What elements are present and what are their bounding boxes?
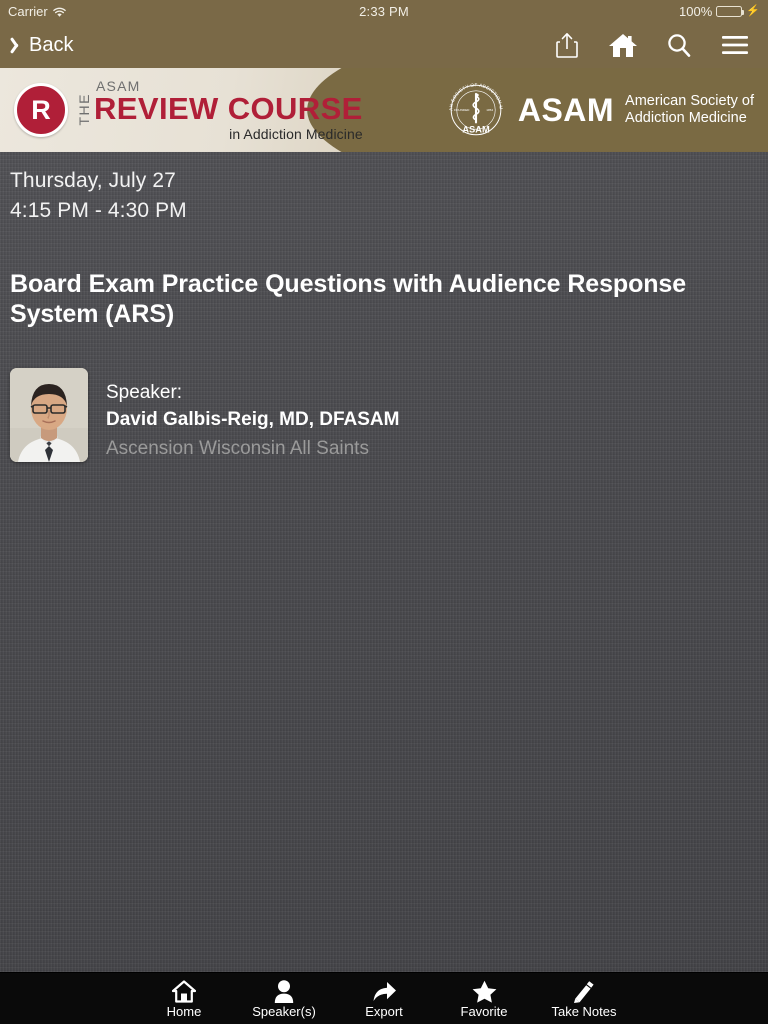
app-root: Carrier 2:33 PM 100% ⚡ Back: [0, 0, 768, 1024]
speaker-photo[interactable]: [10, 368, 88, 462]
tab-export-label: Export: [365, 1005, 403, 1018]
asam-brand-lockup: AMERICAN SOCIETY OF ADDICTION MEDICINE A…: [445, 68, 754, 152]
home-icon[interactable]: [608, 30, 638, 60]
review-course-the-label: THE: [77, 93, 91, 128]
status-bar: Carrier 2:33 PM 100% ⚡: [0, 0, 768, 22]
speaker-name: David Galbis-Reig, MD, DFASAM: [106, 406, 399, 435]
review-course-wordmark: ASAM REVIEW COURSE in Addiction Medicine: [94, 79, 363, 141]
asam-name-line2: Addiction Medicine: [625, 110, 754, 127]
battery-percent-label: 100%: [679, 4, 712, 19]
pencil-icon: [573, 979, 595, 1003]
battery-charging-icon: [716, 6, 742, 17]
status-bar-time: 2:33 PM: [0, 4, 768, 19]
tab-home[interactable]: Home: [134, 973, 234, 1024]
speaker-organization: Ascension Wisconsin All Saints: [106, 435, 399, 464]
back-button[interactable]: Back: [0, 34, 73, 57]
session-detail-content: Thursday, July 27 4:15 PM - 4:30 PM Boar…: [0, 152, 768, 972]
speaker-row[interactable]: Speaker: David Galbis-Reig, MD, DFASAM A…: [10, 368, 758, 464]
tab-speakers[interactable]: Speaker(s): [234, 973, 334, 1024]
svg-text:ASAM: ASAM: [462, 124, 490, 134]
tab-bar: Home Speaker(s) Export: [0, 972, 768, 1024]
back-button-label: Back: [29, 34, 73, 57]
search-icon[interactable]: [664, 30, 694, 60]
review-course-badge: R: [14, 83, 68, 137]
asam-name-line1: American Society of: [625, 93, 754, 110]
nav-bar-actions: [552, 30, 768, 60]
speaker-label: Speaker:: [106, 379, 399, 407]
asam-seal-icon: AMERICAN SOCIETY OF ADDICTION MEDICINE A…: [445, 79, 507, 141]
hamburger-menu-icon[interactable]: [720, 30, 750, 60]
share-arrow-icon: [372, 979, 397, 1003]
lightning-bolt-icon: ⚡: [746, 6, 760, 17]
asam-acronym: ASAM: [518, 94, 614, 126]
star-icon: [472, 979, 497, 1003]
tab-export[interactable]: Export: [334, 973, 434, 1024]
review-course-logo: R THE ASAM REVIEW COURSE in Addiction Me…: [0, 68, 363, 152]
share-icon[interactable]: [552, 30, 582, 60]
review-course-title: REVIEW COURSE: [94, 94, 363, 124]
tab-speakers-label: Speaker(s): [252, 1005, 316, 1018]
session-date: Thursday, July 27: [10, 166, 758, 196]
brand-banner: R THE ASAM REVIEW COURSE in Addiction Me…: [0, 68, 768, 152]
person-icon: [274, 979, 294, 1003]
tab-take-notes-label: Take Notes: [551, 1005, 616, 1018]
tab-favorite-label: Favorite: [461, 1005, 508, 1018]
chevron-left-icon: [12, 36, 23, 54]
nav-bar: Back: [0, 22, 768, 68]
session-title: Board Exam Practice Questions with Audie…: [10, 269, 700, 330]
speaker-info: Speaker: David Galbis-Reig, MD, DFASAM A…: [106, 368, 399, 464]
tab-favorite[interactable]: Favorite: [434, 973, 534, 1024]
review-course-subtitle: in Addiction Medicine: [94, 127, 363, 141]
svg-text:FOUNDED: FOUNDED: [454, 108, 470, 112]
tab-home-label: Home: [167, 1005, 202, 1018]
svg-text:1954: 1954: [486, 108, 493, 112]
status-bar-right: 100% ⚡: [679, 4, 760, 19]
home-outline-icon: [172, 979, 196, 1003]
session-time: 4:15 PM - 4:30 PM: [10, 196, 758, 226]
asam-full-name: American Society of Addiction Medicine: [625, 93, 754, 127]
tab-take-notes[interactable]: Take Notes: [534, 973, 634, 1024]
